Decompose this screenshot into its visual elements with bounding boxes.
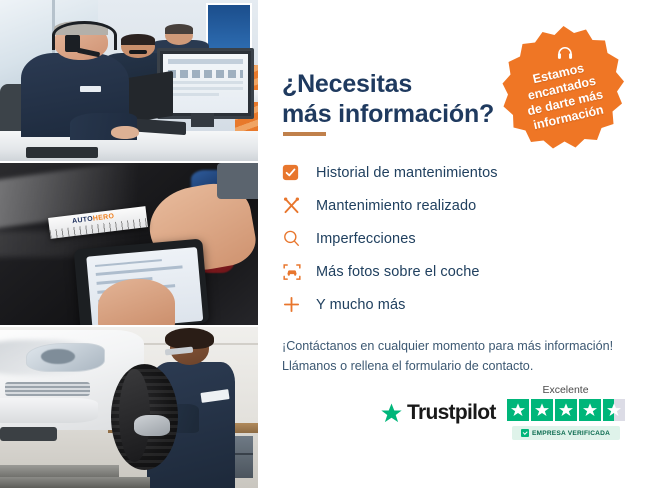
agent-3-hair bbox=[165, 24, 193, 34]
list-item: Más fotos sobre el coche bbox=[282, 255, 632, 288]
trustpilot-logo: Trustpilot bbox=[380, 401, 496, 425]
monitor-ui-row bbox=[168, 93, 219, 96]
agent-2-hair bbox=[121, 34, 155, 45]
headline-line-1: ¿Necesitas bbox=[282, 70, 412, 98]
mechanic-wheel-inspection-photo bbox=[0, 327, 258, 488]
car-bumper bbox=[0, 398, 98, 424]
magnifier-icon bbox=[282, 229, 316, 248]
trustpilot-wordmark: Trustpilot bbox=[407, 401, 496, 425]
rating-star-half bbox=[603, 399, 625, 421]
verified-check-icon bbox=[521, 429, 529, 437]
trustpilot-star-icon bbox=[380, 402, 403, 425]
list-item: Mantenimiento realizado bbox=[282, 189, 632, 222]
list-item: Historial de mantenimientos bbox=[282, 156, 632, 189]
list-item: Y mucho más bbox=[282, 288, 632, 321]
tablet-ui-row bbox=[96, 259, 163, 268]
verified-company-badge: EMPRESA VERIFICADA bbox=[512, 426, 620, 440]
rating-star-filled bbox=[555, 399, 577, 421]
lift-arm-lower bbox=[0, 477, 150, 488]
trustpilot-rating-block: Excelente bbox=[503, 384, 628, 440]
ruler-brand-part1: AUTO bbox=[72, 216, 94, 225]
trustpilot-rating-label: Excelente bbox=[503, 384, 628, 396]
headline-line-2: más información? bbox=[282, 99, 522, 130]
rating-star-filled bbox=[531, 399, 553, 421]
car-grille bbox=[5, 382, 90, 397]
ruler-brand-part2: HERO bbox=[93, 213, 115, 223]
list-item: Imperfecciones bbox=[282, 222, 632, 255]
monitor-ui-header bbox=[168, 59, 242, 64]
contact-paragraph-line-2: Llámanos o rellena el formulario de cont… bbox=[282, 356, 638, 376]
agent-2-headset-mic bbox=[129, 50, 147, 54]
list-item-label: Mantenimiento realizado bbox=[316, 198, 476, 214]
photo-column: AUTOHERO bbox=[0, 0, 258, 488]
trustpilot-stars bbox=[503, 399, 628, 421]
monitor-screen bbox=[163, 54, 247, 113]
inspector-sleeve bbox=[217, 163, 258, 198]
title-divider bbox=[283, 132, 326, 136]
info-promo-banner: AUTOHERO bbox=[0, 0, 650, 488]
bumper-air-intake bbox=[0, 427, 57, 442]
monitor-ui-row bbox=[168, 87, 242, 90]
monitor-stand bbox=[191, 113, 214, 128]
status-badge: Estamos encantados de darte más informac… bbox=[501, 24, 626, 151]
rating-star-filled bbox=[579, 399, 601, 421]
headlight-projector bbox=[41, 349, 75, 364]
monitor-ui-row bbox=[168, 81, 242, 84]
agent-1-headset-band bbox=[52, 21, 117, 50]
agent-1-name-badge bbox=[80, 86, 101, 92]
trustpilot-widget[interactable]: Trustpilot Excelente bbox=[380, 384, 630, 454]
checkbox-checked-icon bbox=[282, 164, 316, 181]
call-center-agents-photo bbox=[0, 0, 258, 161]
feature-list: Historial de mantenimientos Mantenimient… bbox=[282, 156, 632, 321]
list-item-label: Más fotos sobre el coche bbox=[316, 264, 480, 280]
badge-text-block: Estamos encantados de darte más informac… bbox=[501, 24, 626, 151]
monitor-ui-thumbnails bbox=[168, 70, 242, 78]
list-item-label: Imperfecciones bbox=[316, 231, 416, 247]
rating-star-filled bbox=[507, 399, 529, 421]
verified-company-label: EMPRESA VERIFICADA bbox=[532, 430, 610, 437]
tablet-ui-row bbox=[97, 266, 183, 277]
crossed-tools-icon bbox=[282, 196, 316, 215]
agent-1-hand bbox=[111, 126, 139, 139]
desk-tablet bbox=[26, 147, 98, 158]
contact-paragraph-line-1: ¡Contáctanos en cualquier momento para m… bbox=[282, 336, 638, 356]
list-item-label: Y mucho más bbox=[316, 297, 405, 313]
vehicle-inspection-ruler-photo: AUTOHERO bbox=[0, 163, 258, 324]
content-panel: ¿Necesitas más información? Estamos enca… bbox=[258, 0, 650, 488]
inspector-hand-lower bbox=[98, 279, 175, 324]
car-focus-frame-icon bbox=[282, 262, 316, 282]
page-title: ¿Necesitas más información? bbox=[282, 69, 522, 130]
plus-icon bbox=[282, 295, 316, 314]
contact-paragraph: ¡Contáctanos en cualquier momento para m… bbox=[282, 336, 638, 377]
list-item-label: Historial de mantenimientos bbox=[316, 165, 498, 181]
mechanic-glove bbox=[134, 415, 170, 436]
